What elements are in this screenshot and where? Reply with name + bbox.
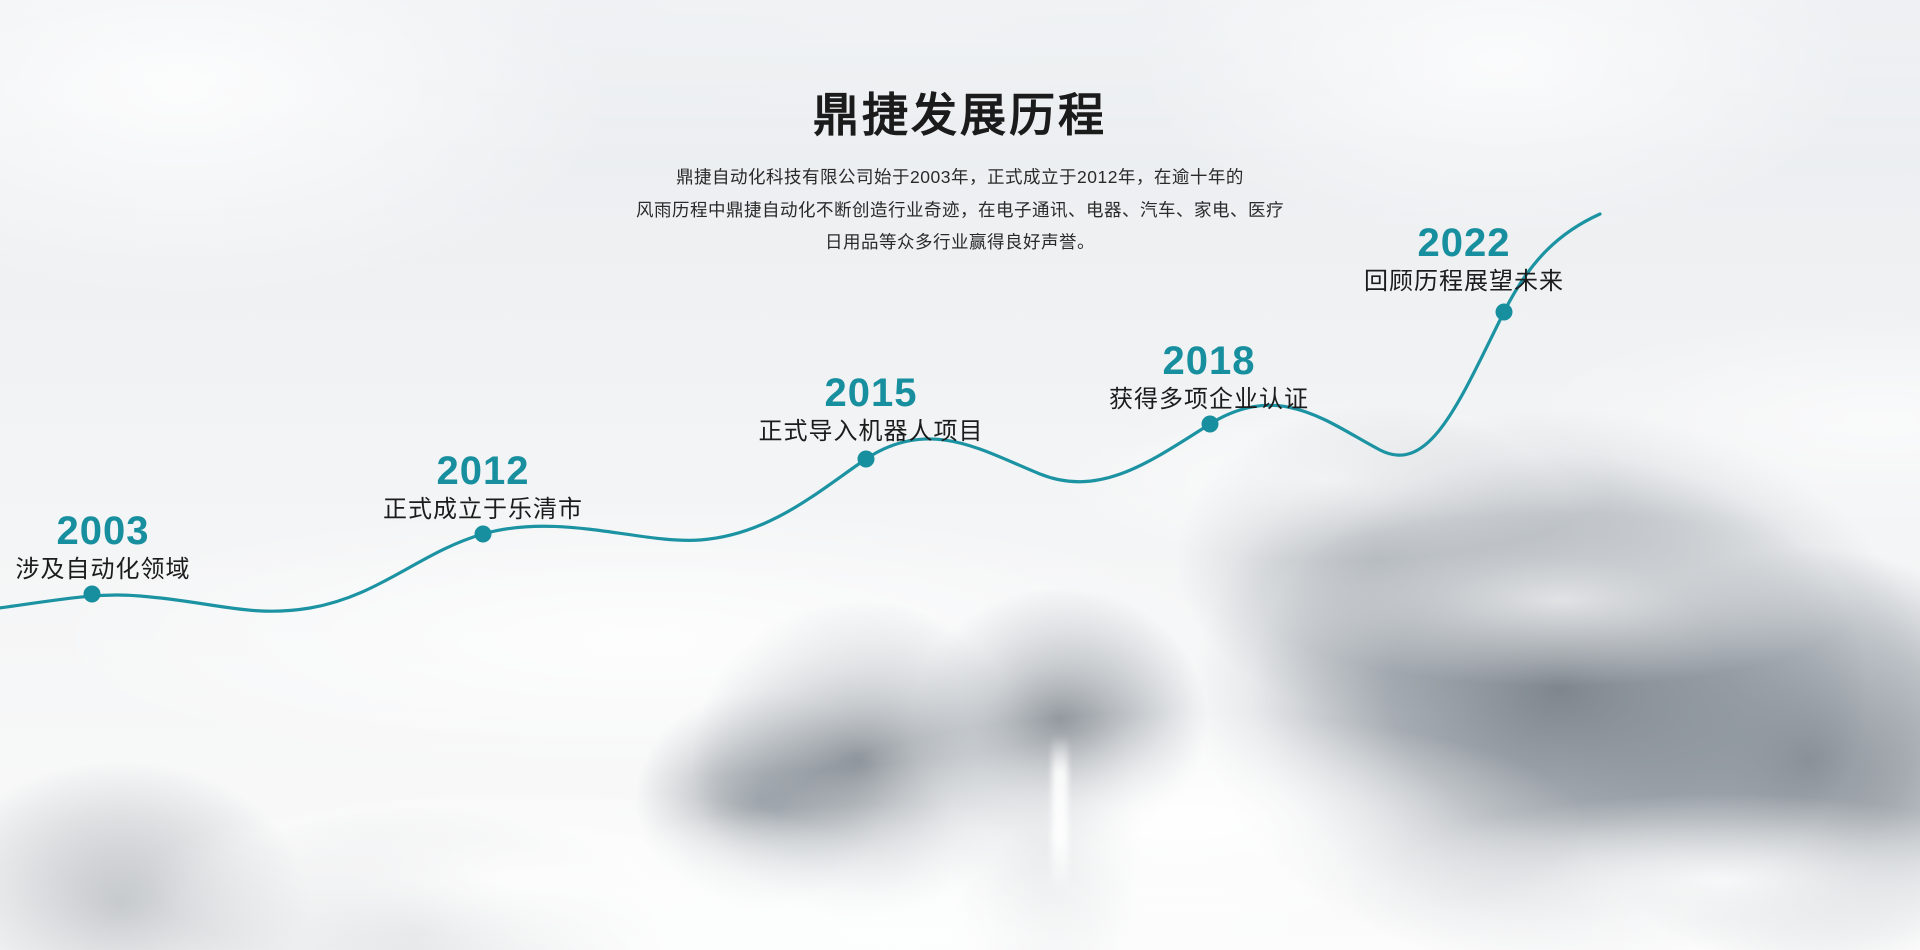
milestone-label: 获得多项企业认证 <box>1109 386 1309 415</box>
milestone-year: 2003 <box>16 510 191 552</box>
milestone-2003[interactable]: 2003涉及自动化领域 <box>16 510 191 585</box>
milestone-year: 2012 <box>383 450 583 492</box>
timeline-dot-2012[interactable] <box>475 526 492 543</box>
milestone-2012[interactable]: 2012正式成立于乐清市 <box>383 450 583 525</box>
timeline-dot-2015[interactable] <box>858 451 875 468</box>
milestone-label: 回顾历程展望未来 <box>1364 268 1564 297</box>
description-line: 鼎捷自动化科技有限公司始于2003年，正式成立于2012年，在逾十年的 <box>0 161 1920 193</box>
milestone-year: 2015 <box>759 372 984 414</box>
description-line: 日用品等众多行业赢得良好声誉。 <box>0 226 1920 258</box>
milestone-2015[interactable]: 2015正式导入机器人项目 <box>759 372 984 447</box>
header: 鼎捷发展历程 鼎捷自动化科技有限公司始于2003年，正式成立于2012年，在逾十… <box>0 88 1920 258</box>
milestone-year: 2018 <box>1109 340 1309 382</box>
milestone-label: 正式成立于乐清市 <box>383 496 583 525</box>
timeline-dot-2022[interactable] <box>1496 304 1513 321</box>
milestone-2018[interactable]: 2018获得多项企业认证 <box>1109 340 1309 415</box>
infographic-canvas: 鼎捷发展历程 鼎捷自动化科技有限公司始于2003年，正式成立于2012年，在逾十… <box>0 0 1920 950</box>
timeline-dot-2003[interactable] <box>84 586 101 603</box>
timeline-dot-2018[interactable] <box>1202 416 1219 433</box>
page-title: 鼎捷发展历程 <box>0 88 1920 143</box>
milestone-label: 正式导入机器人项目 <box>759 418 984 447</box>
description-line: 风雨历程中鼎捷自动化不断创造行业奇迹，在电子通讯、电器、汽车、家电、医疗 <box>0 194 1920 226</box>
milestone-label: 涉及自动化领域 <box>16 556 191 585</box>
page-description: 鼎捷自动化科技有限公司始于2003年，正式成立于2012年，在逾十年的风雨历程中… <box>0 161 1920 258</box>
